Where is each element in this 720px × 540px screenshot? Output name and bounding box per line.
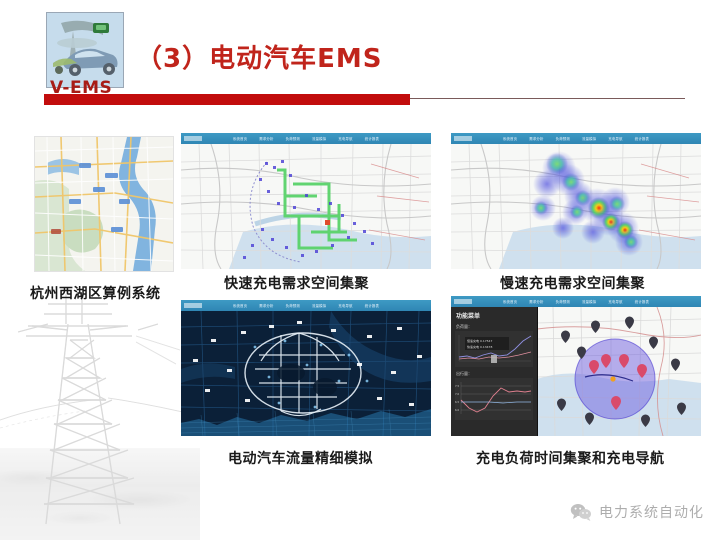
navbar-brand: [184, 136, 202, 141]
figure-navbar[interactable]: 系统首页 需求分析 负荷预测 流量模拟 充电导航 统计报表: [451, 296, 701, 307]
caption-ev-flow-simulation: 电动汽车流量精细模拟: [228, 448, 373, 468]
figure-slow-charge-demand[interactable]: 系统首页 需求分析 负荷预测 流量模拟 充电导航 统计报表: [451, 133, 701, 269]
svg-text:6.5: 6.5: [455, 400, 459, 404]
panel-title: 功能菜单: [456, 311, 480, 320]
map-canvas[interactable]: [537, 307, 701, 436]
nav-item-1[interactable]: 需求分析: [259, 303, 273, 308]
road-network: [181, 311, 431, 436]
ev-charging-logo: [46, 12, 124, 88]
map-canvas[interactable]: [451, 144, 701, 269]
nav-item-2[interactable]: 负荷预测: [556, 136, 570, 141]
nav-item-0[interactable]: 系统首页: [503, 299, 517, 304]
svg-text:7.0: 7.0: [455, 392, 459, 396]
nav-item-0[interactable]: 系统首页: [503, 136, 517, 141]
nav-item-2[interactable]: 负荷预测: [286, 136, 300, 141]
road-network: [537, 307, 701, 436]
nav-item-3[interactable]: 流量模拟: [312, 136, 326, 141]
map-canvas[interactable]: [181, 311, 431, 436]
transmission-tower-photo: [0, 278, 200, 540]
figure-charge-load-navigation[interactable]: 系统首页 需求分析 负荷预测 流量模拟 充电导航 统计报表: [451, 296, 701, 436]
watermark-text: 电力系统自动化: [599, 502, 704, 522]
figure-navbar[interactable]: 系统首页 需求分析 负荷预测 流量模拟 充电导航 统计报表: [181, 300, 431, 311]
navbar-brand: [454, 136, 472, 141]
map-canvas[interactable]: [181, 144, 431, 269]
nav-item-5[interactable]: 统计报表: [635, 136, 649, 141]
nav-item-5[interactable]: 统计报表: [365, 303, 379, 308]
nav-item-4[interactable]: 充电导航: [338, 303, 352, 308]
nav-item-2[interactable]: 负荷预测: [286, 303, 300, 308]
caption-fast-charge-demand: 快速充电需求空间集聚: [224, 273, 369, 293]
nav-item-3[interactable]: 流量模拟: [582, 136, 596, 141]
svg-text:6.0: 6.0: [455, 408, 459, 412]
svg-text:快速充电 0.13478: 快速充电 0.13478: [467, 344, 492, 349]
wechat-icon: [570, 503, 592, 521]
nav-item-3[interactable]: 流量模拟: [312, 303, 326, 308]
caption-hangzhou-base-map: 杭州西湖区算例系统: [30, 283, 161, 303]
navbar-brand: [184, 303, 202, 308]
nav-item-5[interactable]: 统计报表: [365, 136, 379, 141]
nav-item-1[interactable]: 需求分析: [259, 136, 273, 141]
map-canvas[interactable]: [35, 137, 173, 271]
caption-charge-load-navigation: 充电负荷时间集聚和充电导航: [476, 448, 665, 468]
nav-item-5[interactable]: 统计报表: [635, 299, 649, 304]
pylon-structure: [8, 280, 192, 530]
nav-item-1[interactable]: 需求分析: [529, 299, 543, 304]
watermark: 电力系统自动化: [570, 502, 704, 522]
nav-item-0[interactable]: 系统首页: [233, 303, 247, 308]
panel-section-trip: 出行量：: [456, 371, 472, 377]
figure-navbar[interactable]: 系统首页 需求分析 负荷预测 流量模拟 充电导航 统计报表: [451, 133, 701, 144]
navbar-brand: [454, 299, 472, 304]
panel-section-load: 负荷量：: [456, 324, 472, 330]
caption-slow-charge-demand: 慢速充电需求空间集聚: [500, 273, 645, 293]
trip-chart[interactable]: 7.57.0 6.56.0: [455, 378, 533, 420]
svg-text:慢速充电 0.17547: 慢速充电 0.17547: [467, 338, 492, 343]
figure-ev-flow-simulation[interactable]: 系统首页 需求分析 负荷预测 流量模拟 充电导航 统计报表: [181, 300, 431, 436]
nav-item-2[interactable]: 负荷预测: [556, 299, 570, 304]
road-network: [451, 144, 701, 269]
nav-item-4[interactable]: 充电导航: [608, 299, 622, 304]
nav-item-4[interactable]: 充电导航: [608, 136, 622, 141]
page-title: （3）电动汽车EMS: [136, 38, 382, 75]
slide-root: （3）电动汽车EMS V-EMS: [0, 0, 720, 540]
figure-navbar[interactable]: 系统首页 需求分析 负荷预测 流量模拟 充电导航 统计报表: [181, 133, 431, 144]
header-accent-bar: [44, 94, 410, 105]
function-menu-panel[interactable]: 功能菜单 负荷量： 慢速充电 0.17547 快速充电 0.13478 出行量：: [451, 307, 538, 436]
nav-item-4[interactable]: 充电导航: [338, 136, 352, 141]
figure-fast-charge-demand[interactable]: 系统首页 需求分析 负荷预测 流量模拟 充电导航 统计报表: [181, 133, 431, 269]
nav-item-3[interactable]: 流量模拟: [582, 299, 596, 304]
nav-item-0[interactable]: 系统首页: [233, 136, 247, 141]
svg-text:7.5: 7.5: [455, 384, 459, 388]
figure-hangzhou-base-map[interactable]: [34, 136, 174, 272]
load-chart[interactable]: 慢速充电 0.17547 快速充电 0.13478: [455, 331, 533, 367]
road-network: [35, 137, 173, 271]
road-network: [181, 144, 431, 269]
nav-item-1[interactable]: 需求分析: [529, 136, 543, 141]
